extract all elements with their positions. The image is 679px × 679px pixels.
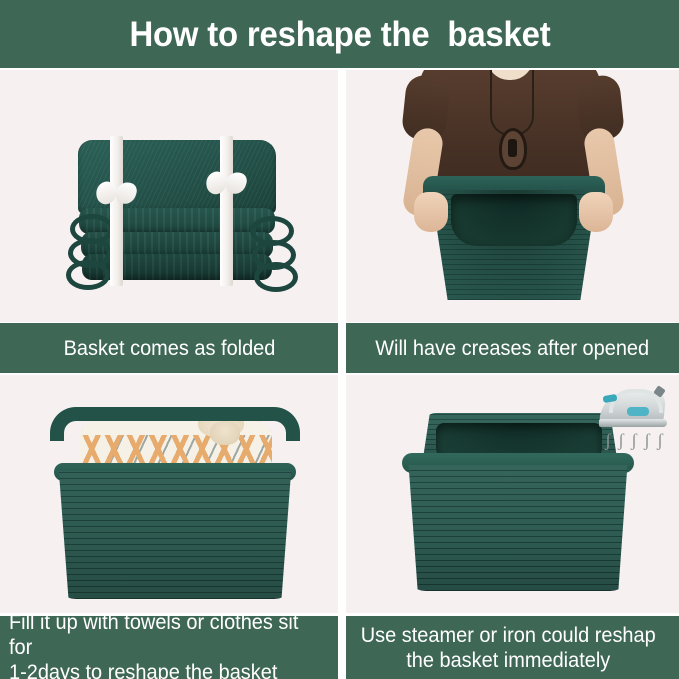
person-hand-left bbox=[414, 192, 448, 232]
iron-sole-plate bbox=[599, 419, 667, 427]
person-holding-basket-illustration bbox=[346, 70, 679, 322]
steam-marks: ʃ ʃ ʃ ʃ ʃ bbox=[605, 431, 665, 449]
step-1-caption-band: Basket comes as folded bbox=[0, 323, 338, 373]
step-3-caption-band: Fill it up with towels or clothes sit fo… bbox=[0, 616, 338, 679]
empty-basket-body bbox=[404, 465, 632, 591]
step-4-caption-band: Use steamer or iron could reshap the bas… bbox=[346, 616, 679, 679]
ribbon-bow-left bbox=[96, 182, 136, 206]
folded-basket-loop-right-3 bbox=[254, 262, 298, 292]
page-title: How to reshape the basket bbox=[129, 17, 550, 52]
step-3-image bbox=[0, 375, 338, 613]
folded-basket-illustration bbox=[78, 140, 276, 290]
steam-mark-1: ʃ bbox=[605, 431, 613, 449]
step-2-image bbox=[346, 70, 679, 322]
step-4-caption: Use steamer or iron could reshap the bas… bbox=[361, 623, 656, 673]
step-3-caption: Fill it up with towels or clothes sit fo… bbox=[9, 616, 322, 679]
steam-iron-icon: ʃ ʃ ʃ ʃ ʃ bbox=[597, 381, 671, 451]
reshape-basket-infographic: How to reshape the basket bbox=[0, 0, 679, 679]
white-ribbon-left bbox=[110, 136, 123, 286]
necklace-pendant bbox=[499, 128, 527, 170]
necklace-cord bbox=[490, 70, 534, 136]
steam-mark-5: ʃ bbox=[657, 431, 665, 449]
step-1-image bbox=[0, 70, 338, 322]
ribbon-bow-right bbox=[206, 172, 246, 196]
filled-basket-body bbox=[54, 471, 296, 599]
steam-mark-3: ʃ bbox=[631, 431, 639, 449]
filled-basket-illustration bbox=[50, 407, 300, 603]
iron-knob-front bbox=[627, 407, 649, 416]
pendant-inner bbox=[508, 139, 517, 157]
person-hand-right bbox=[579, 192, 613, 232]
filled-basket-back-rim bbox=[50, 407, 300, 441]
steam-mark-2: ʃ bbox=[618, 431, 626, 449]
folded-basket-loop-left-3 bbox=[66, 260, 110, 290]
header-band: How to reshape the basket bbox=[0, 0, 679, 68]
steam-mark-4: ʃ bbox=[644, 431, 652, 449]
step-1-caption: Basket comes as folded bbox=[63, 336, 275, 361]
step-2-caption-band: Will have creases after opened bbox=[346, 323, 679, 373]
step-2-caption: Will have creases after opened bbox=[376, 336, 650, 361]
opened-basket-with-creases bbox=[423, 176, 605, 302]
white-ribbon-right bbox=[220, 136, 233, 286]
opened-basket-interior bbox=[451, 194, 577, 246]
step-4-image: ʃ ʃ ʃ ʃ ʃ bbox=[346, 375, 679, 613]
